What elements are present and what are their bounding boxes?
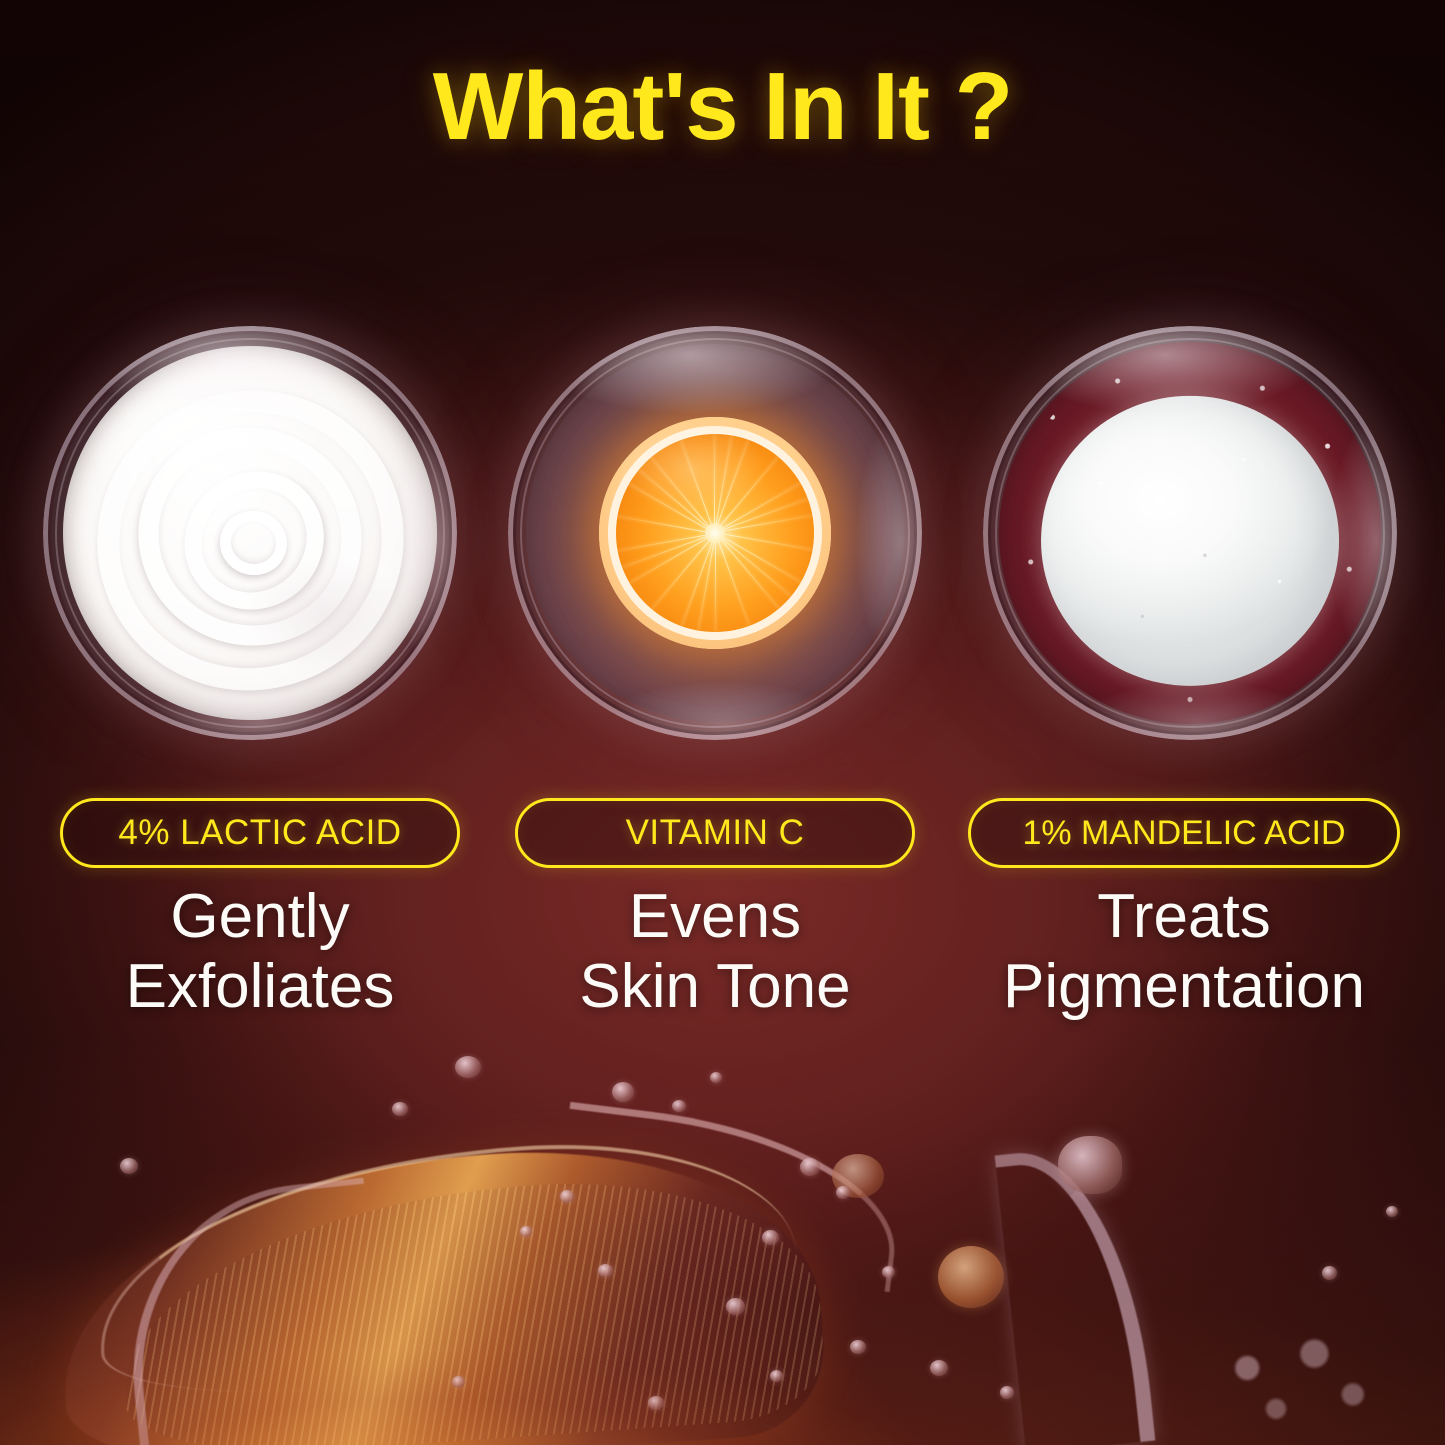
jar-inner-rim bbox=[520, 338, 910, 728]
ingredient-badge-row: 4% LACTIC ACID VITAMIN C 1% MANDELIC ACI… bbox=[0, 798, 1445, 870]
benefit-lactic-acid: Gently Exfoliates bbox=[60, 882, 460, 1022]
badge-mandelic-acid: 1% MANDELIC ACID bbox=[968, 798, 1400, 868]
page-title: What's In It ? bbox=[0, 52, 1445, 162]
glass-jar-icon bbox=[508, 326, 922, 740]
badge-label: 4% LACTIC ACID bbox=[118, 813, 401, 853]
benefit-line-1: Treats bbox=[1097, 882, 1270, 951]
benefit-line-2: Skin Tone bbox=[515, 952, 915, 1022]
jar-inner-rim bbox=[995, 338, 1385, 728]
badge-label: VITAMIN C bbox=[626, 813, 805, 853]
benefit-line-2: Exfoliates bbox=[60, 952, 460, 1022]
ingredient-image-mandelic-acid bbox=[975, 318, 1405, 748]
splash-floor-glow bbox=[0, 1305, 1445, 1445]
glass-jar-icon bbox=[43, 326, 457, 740]
badge-lactic-acid: 4% LACTIC ACID bbox=[60, 798, 460, 868]
badge-vitamin-c: VITAMIN C bbox=[515, 798, 915, 868]
glass-jar-icon bbox=[983, 326, 1397, 740]
splash-droplet-large bbox=[938, 1246, 1004, 1308]
benefit-vitamin-c: Evens Skin Tone bbox=[515, 882, 915, 1022]
badge-label: 1% MANDELIC ACID bbox=[1022, 814, 1345, 853]
jar-inner-rim bbox=[55, 338, 445, 728]
ingredient-image-vitamin-c bbox=[500, 318, 930, 748]
ingredient-image-row bbox=[0, 318, 1445, 748]
benefit-line-2: Pigmentation bbox=[952, 952, 1416, 1022]
infographic-canvas: What's In It ? bbox=[0, 0, 1445, 1445]
benefit-line-1: Evens bbox=[629, 882, 801, 951]
benefit-text-row: Gently Exfoliates Evens Skin Tone Treats… bbox=[0, 882, 1445, 1032]
ingredient-image-lactic-acid bbox=[35, 318, 465, 748]
splash-droplet-large bbox=[1058, 1136, 1122, 1194]
water-splash-decoration bbox=[0, 1040, 1445, 1445]
benefit-line-1: Gently bbox=[170, 882, 349, 951]
splash-droplet-large bbox=[832, 1154, 884, 1198]
benefit-mandelic-acid: Treats Pigmentation bbox=[952, 882, 1416, 1022]
